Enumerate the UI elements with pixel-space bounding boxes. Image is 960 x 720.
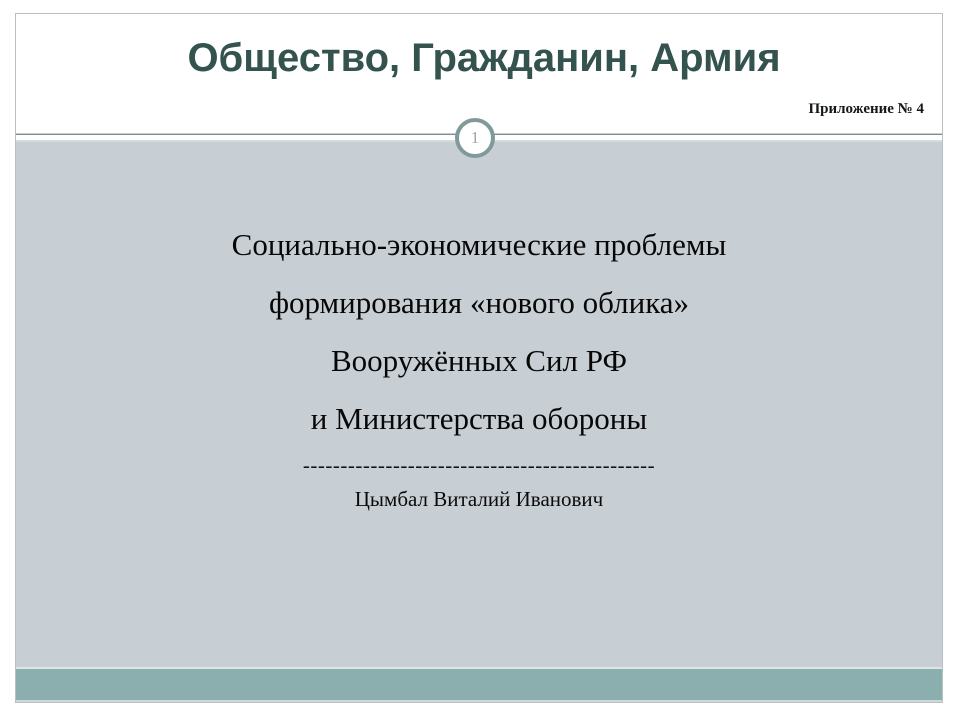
- slide-body: Социально-экономические проблемы формиро…: [16, 140, 942, 702]
- presentation-slide: Общество, Гражданин, Армия Приложение № …: [15, 13, 943, 703]
- title-block: Общество, Гражданин, Армия: [16, 34, 942, 82]
- appendix-label: Приложение № 4: [808, 100, 924, 118]
- content-stack: Социально-экономические проблемы формиро…: [16, 216, 942, 516]
- content-line: Вооружённых Сил РФ: [16, 332, 942, 390]
- page-number-badge: 1: [455, 118, 495, 158]
- author-name: Цымбал Виталий Иванович: [16, 482, 942, 516]
- dashed-separator: ----------------------------------------…: [16, 450, 942, 480]
- page-number-value: 1: [459, 122, 491, 154]
- content-line: формирования «нового облика»: [16, 274, 942, 332]
- footer-band: [16, 669, 942, 700]
- footer-band-bottom-edge: [16, 700, 942, 702]
- content-line: и Министерства обороны: [16, 390, 942, 448]
- slide-header: Общество, Гражданин, Армия Приложение № …: [16, 14, 942, 134]
- slide-canvas: Общество, Гражданин, Армия Приложение № …: [0, 0, 960, 720]
- content-line: Социально-экономические проблемы: [16, 216, 942, 274]
- footer-band-top-edge: [16, 667, 942, 669]
- page-title: Общество, Гражданин, Армия: [177, 34, 780, 82]
